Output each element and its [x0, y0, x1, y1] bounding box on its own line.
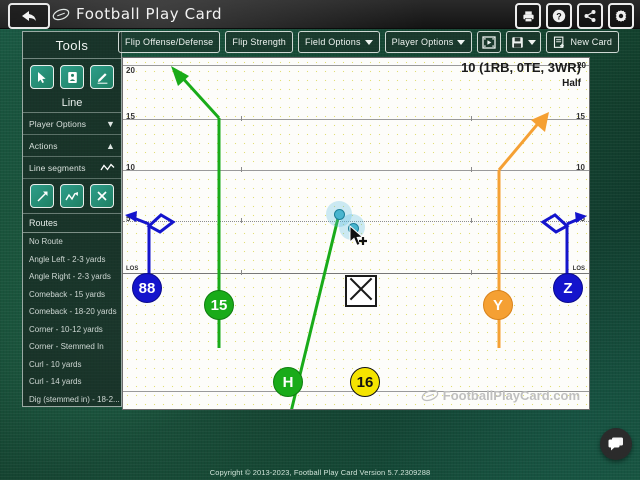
chat-button[interactable] [600, 428, 632, 460]
player-marker-y[interactable]: Y [483, 290, 513, 320]
tool-buttons-row [23, 59, 121, 94]
printer-icon [522, 10, 535, 23]
sidebar-row-player-options[interactable]: Player Options ▼ [23, 113, 121, 135]
app-title: Football Play Card [52, 3, 222, 25]
player-marker-h[interactable]: H [273, 367, 303, 397]
football-icon [421, 389, 439, 402]
new-card-button[interactable]: New Card [546, 31, 619, 53]
center-lineman-marker[interactable] [345, 275, 377, 307]
share-icon [583, 9, 597, 23]
app-title-text: Football Play Card [76, 5, 222, 23]
chevron-down-icon [528, 40, 536, 45]
sidebar-row-line-segments[interactable]: Line segments [23, 157, 121, 179]
sidebar-row-line-segments-label: Line segments [29, 163, 86, 173]
route-list-item[interactable]: Comeback - 18-20 yards [23, 303, 121, 321]
line-action-buttons [23, 179, 121, 214]
flip-strength-label: Flip Strength [232, 37, 286, 47]
play-field[interactable]: 20 15 10 5 LOS 15 10 5 LOS 10 (1RB, 0TE,… [122, 57, 590, 410]
player-card-icon [67, 71, 78, 84]
squiggle-line-button[interactable] [60, 184, 84, 208]
chevron-down-icon: ▼ [106, 119, 115, 129]
flip-strength-button[interactable]: Flip Strength [225, 31, 293, 53]
animate-button[interactable] [477, 31, 501, 53]
player-marker-88[interactable]: 88 [132, 273, 162, 303]
route-list-item[interactable]: Comeback - 15 yards [23, 286, 121, 304]
sidebar-row-actions[interactable]: Actions ▲ [23, 135, 121, 157]
player-options-label: Player Options [392, 37, 454, 47]
zigzag-line-icon [100, 163, 115, 172]
chevron-down-icon [365, 40, 373, 45]
delete-line-button[interactable] [90, 184, 114, 208]
save-dropdown[interactable] [506, 31, 541, 53]
main-toolbar: Flip Offense/Defense Flip Strength Field… [118, 31, 619, 53]
flip-offense-defense-button[interactable]: Flip Offense/Defense [118, 31, 220, 53]
title-bar-actions: ? [515, 3, 634, 29]
new-document-icon [553, 36, 566, 49]
new-card-label: New Card [570, 37, 612, 47]
player-tool-button[interactable] [60, 65, 84, 89]
sidebar-row-actions-label: Actions [29, 141, 58, 151]
football-icon [52, 8, 70, 21]
routes-header: Routes [23, 214, 121, 233]
route-list-item[interactable]: Angle Left - 2-3 yards [23, 251, 121, 269]
field-watermark: FootballPlayCard.com [421, 388, 580, 403]
route-88[interactable] [125, 211, 173, 276]
help-button[interactable]: ? [546, 3, 572, 29]
cursor-arrow-icon [36, 71, 48, 84]
zigzag-arrow-icon [65, 191, 79, 202]
settings-button[interactable] [608, 3, 634, 29]
route-list-item[interactable]: Corner - 10-12 yards [23, 321, 121, 339]
gear-icon [614, 9, 628, 23]
question-mark-icon: ? [552, 9, 566, 23]
watermark-text: FootballPlayCard.com [443, 388, 580, 403]
sidebar-title: Tools [23, 32, 121, 59]
field-options-label: Field Options [305, 37, 361, 47]
film-play-icon [482, 36, 496, 49]
player-marker-16[interactable]: 16 [350, 367, 380, 397]
routes-list: No RouteAngle Left - 2-3 yardsAngle Righ… [23, 233, 121, 407]
print-button[interactable] [515, 3, 541, 29]
select-tool-button[interactable] [30, 65, 54, 89]
close-x-icon [96, 190, 108, 202]
chevron-up-icon: ▲ [106, 141, 115, 151]
route-Z[interactable] [543, 212, 587, 276]
share-button[interactable] [577, 3, 603, 29]
straight-line-button[interactable] [30, 184, 54, 208]
chat-bubble-icon [607, 436, 625, 452]
sidebar-row-player-options-label: Player Options [29, 119, 86, 129]
route-list-item[interactable]: Curl - 10 yards [23, 356, 121, 374]
footer: Copyright © 2013-2023, Football Play Car… [0, 464, 640, 480]
route-list-item[interactable]: Corner - Stemmed In [23, 338, 121, 356]
copyright-text: Copyright © 2013-2023, Football Play Car… [210, 468, 431, 477]
route-drag-handle[interactable] [348, 223, 359, 234]
pencil-line-icon [96, 71, 109, 84]
player-marker-z[interactable]: Z [553, 273, 583, 303]
back-button[interactable] [8, 3, 50, 29]
player-marker-15[interactable]: 15 [204, 290, 234, 320]
save-disk-icon [511, 36, 524, 49]
chevron-down-icon [457, 40, 465, 45]
back-arrow-icon [20, 9, 38, 23]
field-options-dropdown[interactable]: Field Options [298, 31, 380, 53]
svg-text:?: ? [556, 11, 562, 21]
line-tool-button[interactable] [90, 65, 114, 89]
route-list-item[interactable]: No Route [23, 233, 121, 251]
app-background: Football Play Card ? [0, 0, 640, 480]
player-options-dropdown[interactable]: Player Options [385, 31, 473, 53]
route-list-item[interactable]: Curl - 14 yards [23, 373, 121, 391]
flip-offense-defense-label: Flip Offense/Defense [125, 37, 213, 47]
tools-sidebar: Tools Line [22, 31, 122, 407]
route-endpoint-handle[interactable] [334, 209, 345, 220]
sidebar-section-line: Line [23, 94, 121, 113]
route-list-item[interactable]: Dig (stemmed in) - 18-2... [23, 391, 121, 408]
arrow-up-right-icon [36, 190, 49, 203]
route-list-item[interactable]: Angle Right - 2-3 yards [23, 268, 121, 286]
title-bar: Football Play Card ? [0, 0, 640, 29]
